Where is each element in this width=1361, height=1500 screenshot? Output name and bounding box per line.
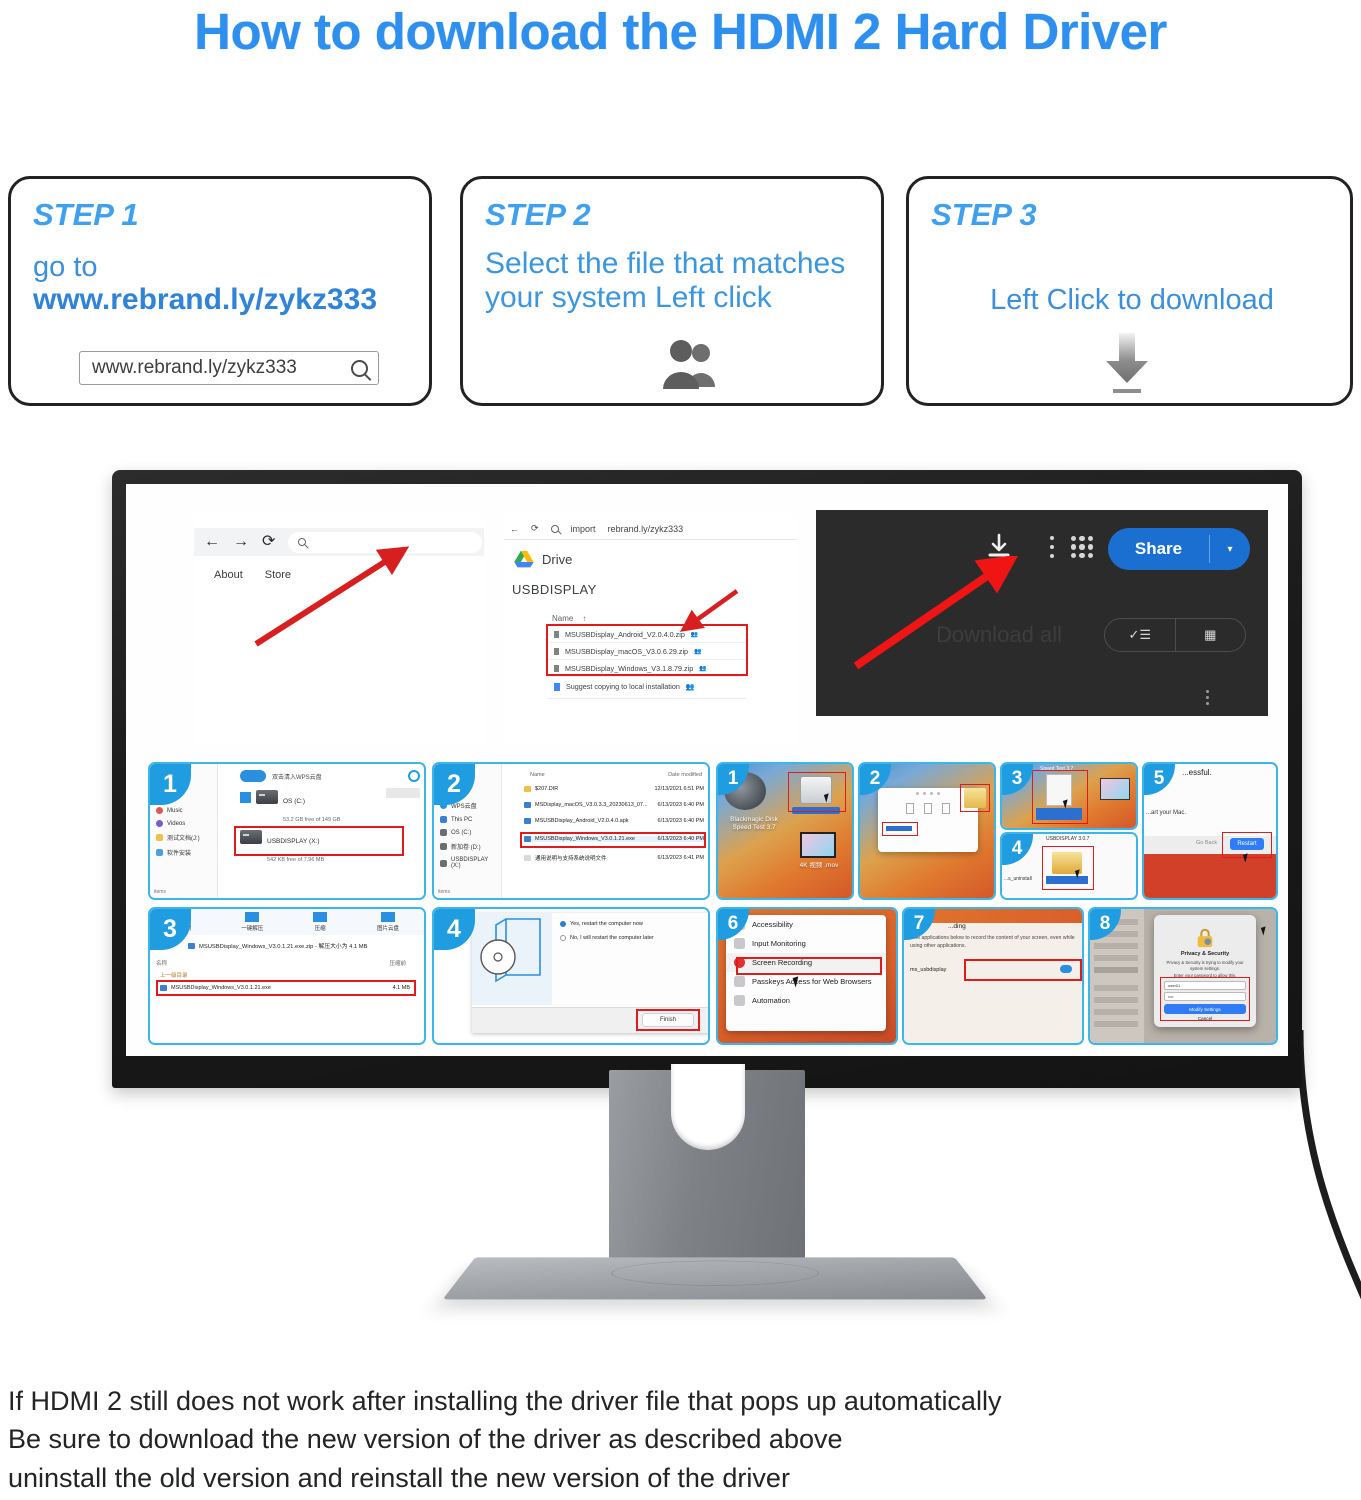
side-label: ...s_uninstall [1004, 876, 1032, 882]
dialog-body: Privacy & Security is trying to modify y… [1160, 960, 1250, 972]
footer-line-3: uninstall the old version and reinstall … [8, 1459, 1353, 1497]
success-title: ...essful. [1182, 768, 1212, 777]
footer-note: If HDMI 2 still does not work after inst… [8, 1382, 1353, 1497]
sidebar-label: Videos [167, 821, 185, 827]
sidebar-label: 测试文档(J:) [167, 833, 200, 842]
shared-people-icon: 👥 [686, 682, 695, 691]
red-arrow-to-files [679, 586, 749, 634]
radio-option-1[interactable]: Yes, restart the computer now [560, 921, 643, 927]
archive-list-header: 名称 压缩前 [156, 959, 420, 967]
wps-cloud-row: 双击清入WPS云盘 [240, 770, 322, 782]
thumb-left-3[interactable]: 解压到 一键解压 压缩 图片云盘 MSUSBDisplay_Windows_V3… [148, 907, 426, 1045]
step-2-line1: Select the file that matches [485, 247, 877, 281]
monitor: ← → ⟳ About Store [112, 470, 1302, 1100]
chevron-down-icon[interactable]: ▾ [1210, 544, 1250, 555]
red-highlight-box [788, 772, 846, 812]
omnibox-left-label: import [571, 524, 596, 534]
privacy-item-label: Passkeys Access for Web Browsers [752, 977, 871, 986]
privacy-item-label: Input Monitoring [752, 939, 806, 948]
back-icon[interactable]: ← [510, 524, 519, 534]
step-2-line2: your system Left click [485, 281, 877, 315]
folder-icon [524, 786, 531, 792]
windows-icon [240, 792, 251, 803]
divider [548, 698, 746, 699]
more-vertical-icon[interactable] [1050, 536, 1054, 558]
step-1-label: STEP 1 [33, 197, 139, 233]
column-name-label[interactable]: Name [552, 614, 573, 623]
thumb-right-3[interactable]: Speed Test 3.7 3 [1000, 762, 1138, 830]
file-date: 12/13/2021 6:51 PM [654, 786, 704, 792]
file-row[interactable]: MSDisplay_macOS_V3.0.3.3_20230613_07... … [524, 802, 704, 808]
monitor-stand-neck [609, 1070, 805, 1266]
success-body: ...art your Mac. [1146, 810, 1186, 816]
window-title: USBDISPLAY 3.0.7 [1046, 836, 1089, 842]
drive-suggest-label: Suggest copying to local installation [566, 682, 680, 691]
sidebar-label: 软件安装 [167, 848, 191, 857]
step-3-text: Left Click to download [927, 284, 1337, 316]
sidebar-item: OS (C:) [434, 826, 501, 839]
drive-panel: ← ⟳ import rebrand.ly/zykz333 [504, 514, 796, 744]
sidebar-item: Videos [150, 817, 217, 830]
archive-titlebar: MSUSBDisplay_Windows_V3.0.1.21.exe.zip -… [188, 941, 368, 950]
sidebar-item: Music [150, 804, 217, 817]
auth-dialog: Privacy & Security Privacy & Security is… [1154, 915, 1256, 1027]
sync-icon [408, 770, 420, 782]
browser-panel: ← → ⟳ About Store [194, 514, 484, 744]
thumb-right-2[interactable]: 2 [858, 762, 996, 900]
archive-toolbar: 解压到 一键解压 压缩 图片云盘 [150, 909, 424, 935]
red-highlight-box [882, 822, 918, 836]
radio-option-2[interactable]: No, I will restart the computer later [560, 935, 654, 941]
status-bar: items [438, 889, 450, 895]
radio-label: No, I will restart the computer later [570, 935, 654, 941]
drive-omnibox: ← ⟳ import rebrand.ly/zykz333 [504, 518, 796, 540]
sidebar-label: This PC [451, 817, 472, 823]
red-arrow-to-download [844, 556, 1019, 676]
status-bar: items [154, 889, 166, 895]
col-date[interactable]: Date modified [668, 772, 702, 778]
thumb-right-8[interactable]: Privacy & Security Privacy & Security is… [1088, 907, 1278, 1045]
step-2-label: STEP 2 [485, 197, 591, 233]
thumb-right-6[interactable]: Accessibility Input Monitoring Screen Re… [716, 907, 898, 1045]
automation-icon [734, 995, 745, 1006]
cable-management-hole [671, 1064, 745, 1150]
sidebar-item: USBDISPLAY (X:) [434, 854, 501, 872]
parent-dir-row[interactable]: 上一级目录 [160, 971, 188, 979]
thumb-right-1[interactable]: Blackmagic Disk Speed Test 3.7 4K 视频 .mo… [716, 762, 854, 900]
thumb-left-2[interactable]: WPS云盘 This PC OS (C:) 新加卷 (D:) USBDISPLA… [432, 762, 710, 900]
col-name[interactable]: Name [530, 772, 545, 778]
drive-logo-row: Drive [514, 550, 572, 568]
step-2-card: STEP 2 Select the file that matches your… [460, 176, 884, 406]
omnibox-url[interactable]: rebrand.ly/zykz333 [608, 524, 684, 534]
sidebar-label: USBDISPLAY (X:) [451, 857, 498, 869]
screen-recording-pane: ...ding ...he applications below to reco… [904, 909, 1082, 1043]
step-1-card: STEP 1 go to www.rebrand.ly/zykz333 www.… [8, 176, 432, 406]
drive-free-label: 53.2 GB free of 149 GB [283, 817, 340, 823]
red-highlight-box [234, 826, 404, 856]
back-icon[interactable]: ← [204, 534, 220, 550]
base-ring [607, 1261, 823, 1286]
drive-icon [256, 790, 278, 804]
privacy-item[interactable]: Accessibility [726, 915, 886, 934]
red-highlight-box [1042, 846, 1094, 890]
step-3-card: STEP 3 Left Click to download [906, 176, 1353, 406]
zip-icon [188, 943, 195, 949]
red-highlight-box [520, 832, 706, 848]
thumb-right-5[interactable]: ...essful. ...art your Mac. Go Back Rest… [1142, 762, 1278, 900]
drive-suggest-row[interactable]: Suggest copying to local installation 👥 [554, 682, 695, 691]
file-name: MSUSBDisplay_Android_V2.0.4.0.apk [535, 818, 654, 824]
video-thumbnail [1100, 778, 1130, 800]
step-1-line2: www.rebrand.ly/zykz333 [33, 283, 377, 317]
file-date: 6/13/2023 6:40 PM [658, 818, 704, 824]
drive-folder-name: USBDISPLAY [512, 582, 597, 597]
footer-line-1: If HDMI 2 still does not work after inst… [8, 1382, 1353, 1420]
sidebar-label: OS (C:) [451, 830, 471, 836]
monitor-screen: ← → ⟳ About Store [126, 484, 1288, 1056]
thumb-left-1[interactable]: Music Videos 测试文档(J:) 软件安装 items 双击清入WPS… [148, 762, 426, 900]
radio-unselected-icon [560, 935, 566, 941]
doc-icon [554, 683, 560, 691]
sidebar-item: This PC [434, 813, 501, 826]
page-title: How to download the HDMI 2 Hard Driver [0, 2, 1361, 61]
share-button-label: Share [1108, 539, 1209, 559]
privacy-item-label: Automation [752, 996, 790, 1005]
search-icon [551, 525, 559, 533]
passkeys-icon [734, 976, 745, 987]
monitor-stand-base [443, 1257, 988, 1299]
installer-art [472, 913, 552, 1005]
partial-panel [386, 788, 420, 798]
red-highlight-box [636, 1009, 700, 1031]
google-drive-icon [514, 550, 534, 568]
drive-name: OS (C:) [283, 798, 305, 805]
red-highlight-box [960, 784, 990, 812]
sidebar-item: 新加卷 (D:) [434, 839, 501, 854]
cd-box-icon [472, 913, 552, 1005]
sidebar-label: 新加卷 (D:) [451, 842, 481, 851]
app-label: Blackmagic Disk Speed Test 3.7 [720, 816, 788, 832]
video-thumbnail[interactable] [800, 832, 836, 858]
toolbar-btn: 图片云盘 [377, 912, 399, 932]
col-name[interactable]: 名称 [156, 959, 167, 967]
radio-selected-icon [560, 921, 566, 927]
red-arrow-to-address-bar [234, 542, 414, 652]
section-title: ...ding [948, 923, 966, 930]
search-icon [351, 360, 368, 377]
explorer-window: Music Videos 测试文档(J:) 软件安装 items 双击清入WPS… [150, 764, 424, 898]
step-1-line1: go to [33, 251, 98, 283]
drive-preview-dark-panel: Share ▾ Download all ✓☰ ▦ [816, 510, 1268, 716]
file-name: MSDisplay_macOS_V3.0.3.3_20230613_07... [535, 802, 654, 808]
mac-settings-bg: Accessibility Input Monitoring Screen Re… [718, 909, 896, 1043]
step-3-label: STEP 3 [931, 197, 1037, 233]
archive-title: MSUSBDisplay_Windows_V3.0.1.21.exe.zip -… [199, 941, 368, 950]
step-2-text: Select the file that matches your system… [485, 247, 877, 314]
toggle-switch[interactable] [1060, 965, 1072, 973]
url-input[interactable]: www.rebrand.ly/zykz333 [79, 351, 379, 385]
file-list-header: Name Date modified [530, 772, 702, 778]
doc-icon [524, 855, 531, 861]
zip-icon [524, 802, 531, 808]
poster-root: How to download the HDMI 2 Hard Driver S… [0, 0, 1361, 1500]
toolbar-btn: 一键解压 [241, 912, 263, 932]
explorer-window: WPS云盘 This PC OS (C:) 新加卷 (D:) USBDISPLA… [434, 764, 708, 898]
steps-row: STEP 1 go to www.rebrand.ly/zykz333 www.… [8, 176, 1353, 406]
file-name: $207.DIR [535, 786, 650, 792]
dialog-title: Privacy & Security [1160, 951, 1250, 957]
file-date: 6/13/2023 6:41 PM [658, 855, 704, 861]
radio-label: Yes, restart the computer now [570, 921, 643, 927]
red-highlight-box [736, 957, 882, 975]
grid-view-icon[interactable]: ▦ [1175, 619, 1246, 651]
drive-free-label: 542 KB free of 7.96 MB [267, 857, 324, 863]
share-button[interactable]: Share ▾ [1108, 528, 1250, 570]
apps-grid-icon[interactable] [1071, 536, 1093, 558]
file-date: 6/13/2023 6:40 PM [658, 802, 704, 808]
mouse-cursor-icon [1261, 926, 1268, 935]
people-group-icon [657, 339, 727, 391]
privacy-item-label: Accessibility [752, 920, 793, 929]
list-view-icon[interactable]: ✓☰ [1105, 619, 1175, 651]
url-input-value: www.rebrand.ly/zykz333 [92, 357, 343, 379]
monitor-bezel: ← → ⟳ About Store [112, 470, 1302, 1088]
go-back-button[interactable]: Go Back [1196, 840, 1217, 846]
privacy-item[interactable]: Input Monitoring [726, 934, 886, 953]
drive-app-name: Drive [542, 552, 572, 567]
installer-window: Yes, restart the computer now No, I will… [434, 909, 708, 1043]
installer-dialog: Yes, restart the computer now No, I will… [472, 913, 710, 1033]
video-label: 4K 视频 .mov [794, 862, 844, 870]
more-vertical-icon-secondary[interactable] [1206, 690, 1209, 705]
zip-icon [524, 818, 531, 824]
red-highlight-box [1160, 977, 1250, 1021]
input-monitoring-icon [734, 938, 745, 949]
file-row[interactable]: $207.DIR 12/13/2021 6:51 PM [524, 786, 704, 792]
mac-settings-bg: Privacy & Security Privacy & Security is… [1090, 909, 1276, 1043]
sidebar-item: 测试文档(J:) [150, 830, 217, 845]
download-arrow-icon [1095, 331, 1159, 397]
sidebar-label: Music [167, 808, 183, 814]
section-body: ...he applications below to record the c… [910, 935, 1078, 951]
archive-window: 解压到 一键解压 压缩 图片云盘 MSUSBDisplay_Windows_V3… [150, 909, 424, 1043]
thumbnail-grid: Music Videos 测试文档(J:) 软件安装 items 双击清入WPS… [148, 762, 1278, 1056]
file-row[interactable]: 通用说明与支持系统说明文件 6/13/2023 6:41 PM [524, 854, 704, 862]
drive-item-os[interactable]: OS (C:) 53.2 GB free of 149 GB [240, 790, 340, 826]
file-row[interactable]: MSUSBDisplay_Android_V2.0.4.0.apk 6/13/2… [524, 818, 704, 824]
lock-icon [1194, 927, 1216, 949]
privacy-item[interactable]: Automation [726, 991, 886, 1010]
wps-cloud-label: 双击清入WPS云盘 [272, 772, 322, 781]
red-highlight-box [156, 980, 416, 996]
toolbar-btn: 压缩 [313, 912, 327, 932]
view-toggle: ✓☰ ▦ [1104, 618, 1246, 652]
col-size[interactable]: 压缩前 [389, 959, 406, 967]
sort-arrow-icon[interactable]: ↑ [582, 614, 586, 623]
sidebar-item: 软件安装 [150, 845, 217, 860]
thumb-right-7[interactable]: ...ding ...he applications below to reco… [902, 907, 1084, 1045]
app-entry-label: ms_usbdisplay [910, 967, 946, 973]
thumb-right-4[interactable]: USBDISPLAY 3.0.7 ...s_uninstall 4 [1000, 832, 1138, 900]
drive-column-header: Name ↑ [552, 614, 586, 623]
reload-icon[interactable]: ⟳ [531, 523, 539, 534]
file-name: 通用说明与支持系统说明文件 [535, 854, 654, 862]
red-highlight-box [1032, 770, 1088, 824]
thumb-left-4[interactable]: Yes, restart the computer now No, I will… [432, 907, 710, 1045]
footer-line-2: Be sure to download the new version of t… [8, 1420, 1353, 1458]
